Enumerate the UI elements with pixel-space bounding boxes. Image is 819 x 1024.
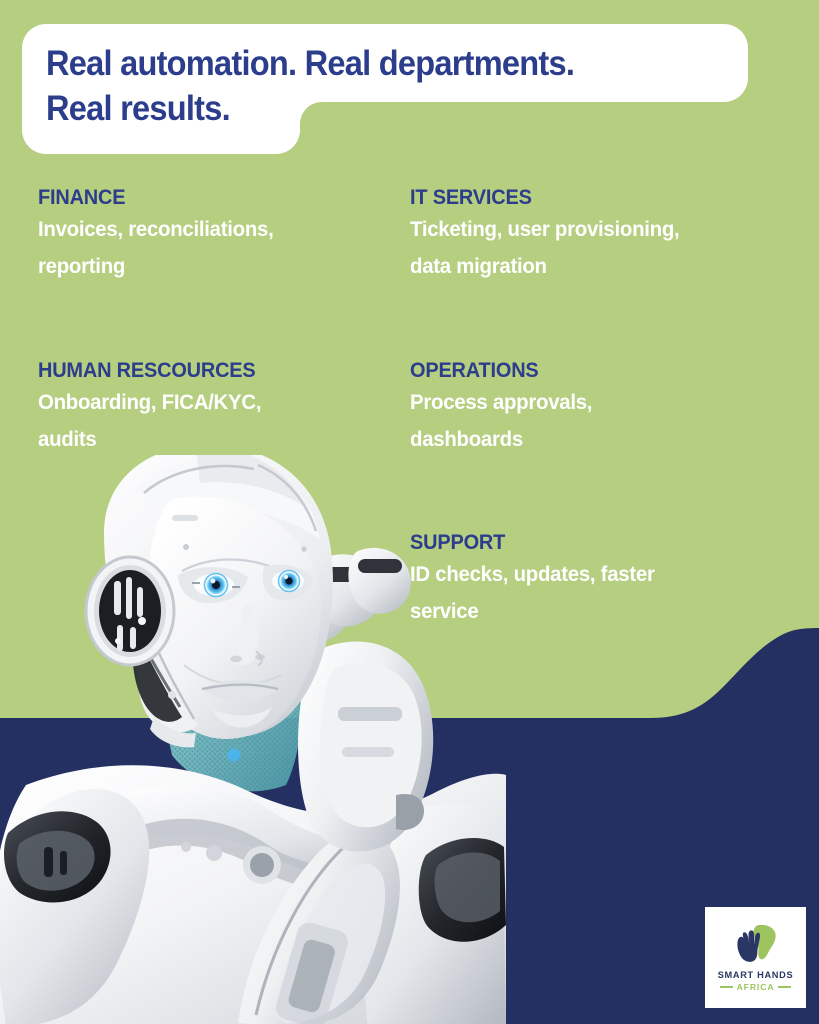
department-body-operations: Process approvals, dashboards xyxy=(410,384,790,458)
poster-canvas: Real automation. Real departments. Real … xyxy=(0,0,819,1024)
department-heading-support: SUPPORT xyxy=(410,530,790,556)
department-body-human-rescources: Onboarding, FICA/KYC, audits xyxy=(38,384,380,458)
department-heading-operations: OPERATIONS xyxy=(410,358,790,384)
hand-africa-icon xyxy=(731,923,781,967)
logo-sub-text: AFRICA xyxy=(737,982,775,992)
department-block-human-rescources: HUMAN RESCOURCES Onboarding, FICA/KYC, a… xyxy=(38,358,398,458)
page-title: Real automation. Real departments. Real … xyxy=(46,41,697,131)
department-heading-finance: FINANCE xyxy=(38,185,380,211)
logo-smart-hands-africa[interactable]: SMART HANDS AFRICA xyxy=(705,907,806,1008)
headline-bubble: Real automation. Real departments. Real … xyxy=(22,24,752,154)
department-block-support: SUPPORT ID checks, updates, faster servi… xyxy=(410,530,810,630)
department-heading-it-services: IT SERVICES xyxy=(410,185,790,211)
logo-name-text: SMART HANDS xyxy=(718,970,794,980)
logo-rule-right xyxy=(778,986,791,987)
department-block-it-services: IT SERVICES Ticketing, user provisioning… xyxy=(410,185,810,285)
department-body-it-services: Ticketing, user provisioning, data migra… xyxy=(410,211,790,285)
department-heading-human-rescources: HUMAN RESCOURCES xyxy=(38,358,380,384)
logo-sub-row: AFRICA xyxy=(720,982,792,992)
department-body-finance: Invoices, reconciliations, reporting xyxy=(38,211,380,285)
department-block-operations: OPERATIONS Process approvals, dashboards xyxy=(410,358,810,458)
department-block-finance: FINANCE Invoices, reconciliations, repor… xyxy=(38,185,398,285)
department-body-support: ID checks, updates, faster service xyxy=(410,556,790,630)
logo-rule-left xyxy=(720,986,733,987)
